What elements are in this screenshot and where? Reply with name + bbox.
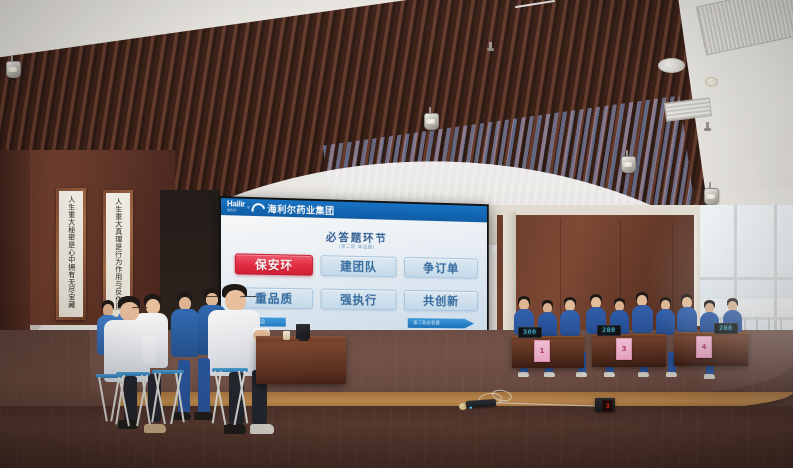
- drinking-cup: [283, 331, 290, 340]
- team-number-card: 1: [534, 340, 550, 362]
- photo-scene: 人生重大秘密是心中拥有无尽宝藏 人生重大真理是行为作用与反作用: [0, 0, 793, 468]
- eyeglasses-icon: [240, 296, 257, 300]
- contestant-shoe: [576, 372, 587, 377]
- calligraphy-scroll-1: 人生重大秘密是心中拥有无尽宝藏: [56, 188, 86, 320]
- calligraphy-scroll-2-text: 人生重大真理是行为作用与反作用: [114, 198, 122, 311]
- contestant-shoe: [704, 374, 715, 379]
- smoke-detector-icon: [705, 77, 718, 87]
- countdown-timer-device: 3: [595, 398, 615, 412]
- tablet-device: [296, 324, 310, 339]
- team-score-display: 300: [518, 327, 542, 338]
- left-wall-dark-edge: [0, 150, 30, 330]
- option-button-1[interactable]: 保安环: [235, 253, 313, 275]
- judges-podium: [256, 336, 346, 384]
- contestant-shoe: [638, 372, 649, 377]
- option-button-5[interactable]: 强执行: [321, 289, 397, 311]
- ceiling-speaker: [658, 58, 685, 73]
- contestant-shoe: [518, 372, 529, 377]
- team-score-display: 280: [597, 325, 621, 336]
- logo-swoosh-icon: [252, 201, 263, 213]
- company-logo: Hailir 海利尔 ® 海利尔药业集团: [227, 200, 335, 217]
- logo-latin-subtext: 海利尔: [227, 210, 245, 214]
- audience-leg: [198, 358, 210, 414]
- calligraphy-scroll-1-text: 人生重大秘密是心中拥有无尽宝藏: [67, 196, 75, 309]
- option-button-3[interactable]: 争订单: [404, 257, 478, 279]
- tablet-stand: [299, 338, 308, 341]
- team-number-card: 4: [696, 336, 712, 358]
- sprinkler-head-icon: [706, 122, 709, 129]
- eyeglasses-icon: [205, 296, 218, 300]
- logo-chinese-name: 海利尔药业集团: [267, 201, 334, 217]
- next-round-button[interactable]: 第二轮必答题: [408, 318, 474, 328]
- registered-mark: ®: [247, 205, 250, 210]
- window-sky: [700, 205, 793, 304]
- contestant-shoe: [604, 372, 615, 377]
- contestant-shoe: [666, 372, 677, 377]
- folding-stool: [96, 374, 122, 422]
- wall-panel-divider: [672, 222, 673, 326]
- window-mullion-horizontal: [700, 277, 793, 280]
- judge-shoe: [250, 424, 274, 434]
- option-button-2[interactable]: 建团队: [321, 255, 397, 277]
- option-grid: 保安环 建团队 争订单 重品质 强执行 共创新: [235, 253, 478, 311]
- option-button-6[interactable]: 共创新: [404, 290, 478, 311]
- eyeglasses-icon: [132, 307, 148, 311]
- power-led-icon: [469, 407, 472, 409]
- contestant-shoe: [544, 372, 555, 377]
- slide-surface: Hailir 海利尔 ® 海利尔药业集团 必答题环节 (第二轮 单选题) 保安环…: [221, 198, 487, 348]
- wall-panel-divider: [560, 218, 561, 328]
- team-score-display: 280: [714, 323, 738, 334]
- sprinkler-head-icon: [489, 42, 492, 49]
- team-number-card: 3: [616, 338, 632, 360]
- timer-digit-display: 3: [602, 400, 613, 412]
- folding-stool: [152, 370, 184, 425]
- folding-stool: [212, 368, 248, 426]
- audience-shoe: [194, 412, 213, 420]
